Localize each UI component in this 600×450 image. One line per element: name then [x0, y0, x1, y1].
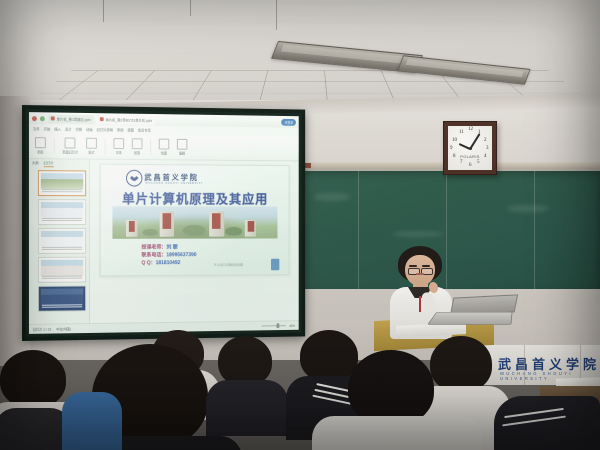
document-tab-active[interactable]: 单片机_第2章80C51单片机.pptx: [97, 115, 155, 125]
zoom-slider-handle[interactable]: [276, 323, 279, 328]
clock-number: 10: [452, 138, 457, 143]
clock-number: 8: [453, 154, 456, 159]
laptop: [427, 312, 512, 325]
qq-group-badge-icon: [271, 259, 279, 271]
clock-number: 3: [486, 146, 489, 151]
powerpoint-icon: [51, 116, 55, 120]
campus-gate-photo: [112, 206, 277, 239]
menu-item-insert[interactable]: 插入: [54, 126, 61, 131]
pane-tab-slides[interactable]: 幻灯片: [44, 160, 54, 167]
wall-clock: 12 1 2 3 4 5 6 7 8 9 10 11 POLARIS: [443, 121, 497, 175]
account-status[interactable]: 未登录: [282, 118, 296, 125]
menu-item-slideshow[interactable]: 幻灯片放映: [97, 127, 113, 132]
projected-presentation[interactable]: 单片机_第1章绪论.pptx 单片机_第2章80C51单片机.pptx 未登录 …: [29, 112, 299, 334]
slide-contact-block: 授课老师：刘 丽 联系电话：18995637390 Q Q：181810492: [141, 243, 196, 267]
powerpoint-icon: [100, 117, 104, 121]
menu-item-home[interactable]: 开始: [44, 126, 51, 131]
ribbon-new-slide-button[interactable]: 新建幻灯片: [63, 137, 79, 154]
taskbar-clock[interactable]: 14:38: [288, 333, 295, 334]
zoom-level[interactable]: 48%: [289, 324, 295, 328]
paste-icon: [35, 137, 46, 148]
ribbon-label: 绘图: [161, 150, 167, 155]
phone-number: 18995637390: [166, 252, 196, 258]
window-minimize-icon[interactable]: [40, 116, 45, 121]
menu-item-member[interactable]: 会员专享: [138, 128, 151, 133]
clock-number: 9: [450, 146, 453, 151]
window-close-icon[interactable]: [32, 116, 37, 121]
ribbon-label: 字体: [116, 150, 122, 155]
clock-center-pin: [469, 147, 472, 150]
instructor-label: 授课老师：: [141, 245, 166, 251]
slide-footnote: 学习心得与问题反馈交流群: [214, 263, 243, 267]
slide-counter: 幻灯片 1 / 23: [33, 327, 51, 332]
clock-number: 7: [460, 160, 463, 165]
clock-number: 11: [459, 130, 464, 135]
ribbon-label: 版式: [88, 150, 94, 155]
slide-title: 单片计算机原理及其应用: [101, 188, 289, 207]
ribbon-label: 段落: [134, 150, 140, 155]
paragraph-icon: [132, 138, 143, 149]
document-tab-label: 单片机_第2章80C51单片机.pptx: [105, 117, 152, 123]
teacher-mouth: [416, 273, 424, 275]
ribbon-paragraph-group[interactable]: 段落: [132, 138, 143, 155]
ppt-workspace: 大纲 幻灯片 1 2 3: [29, 159, 299, 324]
language-indicator[interactable]: 中文(中国): [56, 326, 71, 331]
slide-thumbnail[interactable]: 1: [38, 170, 86, 196]
slide-thumbnail[interactable]: 4: [38, 257, 86, 283]
clock-face: 12 1 2 3 4 5 6 7 8 9 10 11 POLARIS: [448, 126, 492, 170]
ribbon-label: 新建幻灯片: [63, 149, 79, 154]
menu-item-design[interactable]: 设计: [65, 127, 72, 132]
clock-brand: POLARIS: [460, 154, 479, 159]
phone-label: 联系电话：: [141, 252, 166, 258]
ppt-ribbon: 粘贴 新建幻灯片 版式 字体 段落: [29, 133, 299, 161]
qq-label: Q Q：: [141, 260, 155, 266]
new-slide-icon: [65, 138, 76, 149]
clock-number: 6: [469, 163, 472, 168]
slide-thumbnail-pane[interactable]: 大纲 幻灯片 1 2 3: [29, 159, 90, 324]
document-tab[interactable]: 单片机_第1章绪论.pptx: [48, 114, 94, 124]
current-slide[interactable]: 武昌首义学院 WUCHANG SHOUYI UNIVERSITY 单片计算机原理…: [100, 164, 290, 277]
document-tab-label: 单片机_第1章绪论.pptx: [57, 116, 91, 121]
shapes-icon: [159, 139, 170, 150]
ribbon-paste-button[interactable]: 粘贴: [35, 137, 46, 154]
classroom-scene: 12 1 2 3 4 5 6 7 8 9 10 11 POLARIS: [0, 0, 600, 450]
instructor-name: 刘 丽: [166, 245, 177, 251]
menu-item-view[interactable]: 视图: [127, 127, 134, 132]
ribbon-editing-group[interactable]: 编辑: [177, 139, 187, 156]
menu-item-animations[interactable]: 动画: [86, 127, 93, 132]
slide-thumbnail[interactable]: 2: [38, 199, 86, 225]
ribbon-font-group[interactable]: 字体: [113, 138, 124, 155]
slide-editing-area[interactable]: 武昌首义学院 WUCHANG SHOUYI UNIVERSITY 单片计算机原理…: [90, 160, 299, 323]
university-name-en: WUCHANG SHOUYI UNIVERSITY: [145, 182, 203, 185]
clock-number: 2: [484, 138, 487, 143]
slide-thumbnail[interactable]: 3: [38, 228, 86, 254]
ribbon-layout-button[interactable]: 版式: [86, 138, 97, 155]
menu-item-file[interactable]: 文件: [33, 126, 40, 131]
edit-icon: [177, 139, 187, 150]
ribbon-label: 粘贴: [37, 149, 43, 154]
zoom-slider[interactable]: [261, 325, 285, 326]
clock-number: 4: [484, 154, 487, 159]
menu-item-transitions[interactable]: 切换: [75, 127, 82, 132]
pane-tab-outline[interactable]: 大纲: [32, 160, 39, 167]
layout-icon: [86, 138, 97, 149]
university-emblem-icon: [126, 170, 142, 187]
projection-screen-frame: 单片机_第1章绪论.pptx 单片机_第2章80C51单片机.pptx 未登录 …: [22, 105, 305, 341]
slide-thumbnail[interactable]: 5: [38, 285, 86, 311]
clock-number: 12: [468, 127, 473, 132]
font-icon: [113, 138, 124, 149]
ribbon-drawing-group[interactable]: 绘图: [159, 139, 170, 156]
menu-item-review[interactable]: 审阅: [117, 127, 124, 132]
clock-number: 5: [477, 160, 480, 165]
qq-number: 181810492: [156, 260, 181, 266]
ribbon-label: 编辑: [179, 151, 185, 156]
